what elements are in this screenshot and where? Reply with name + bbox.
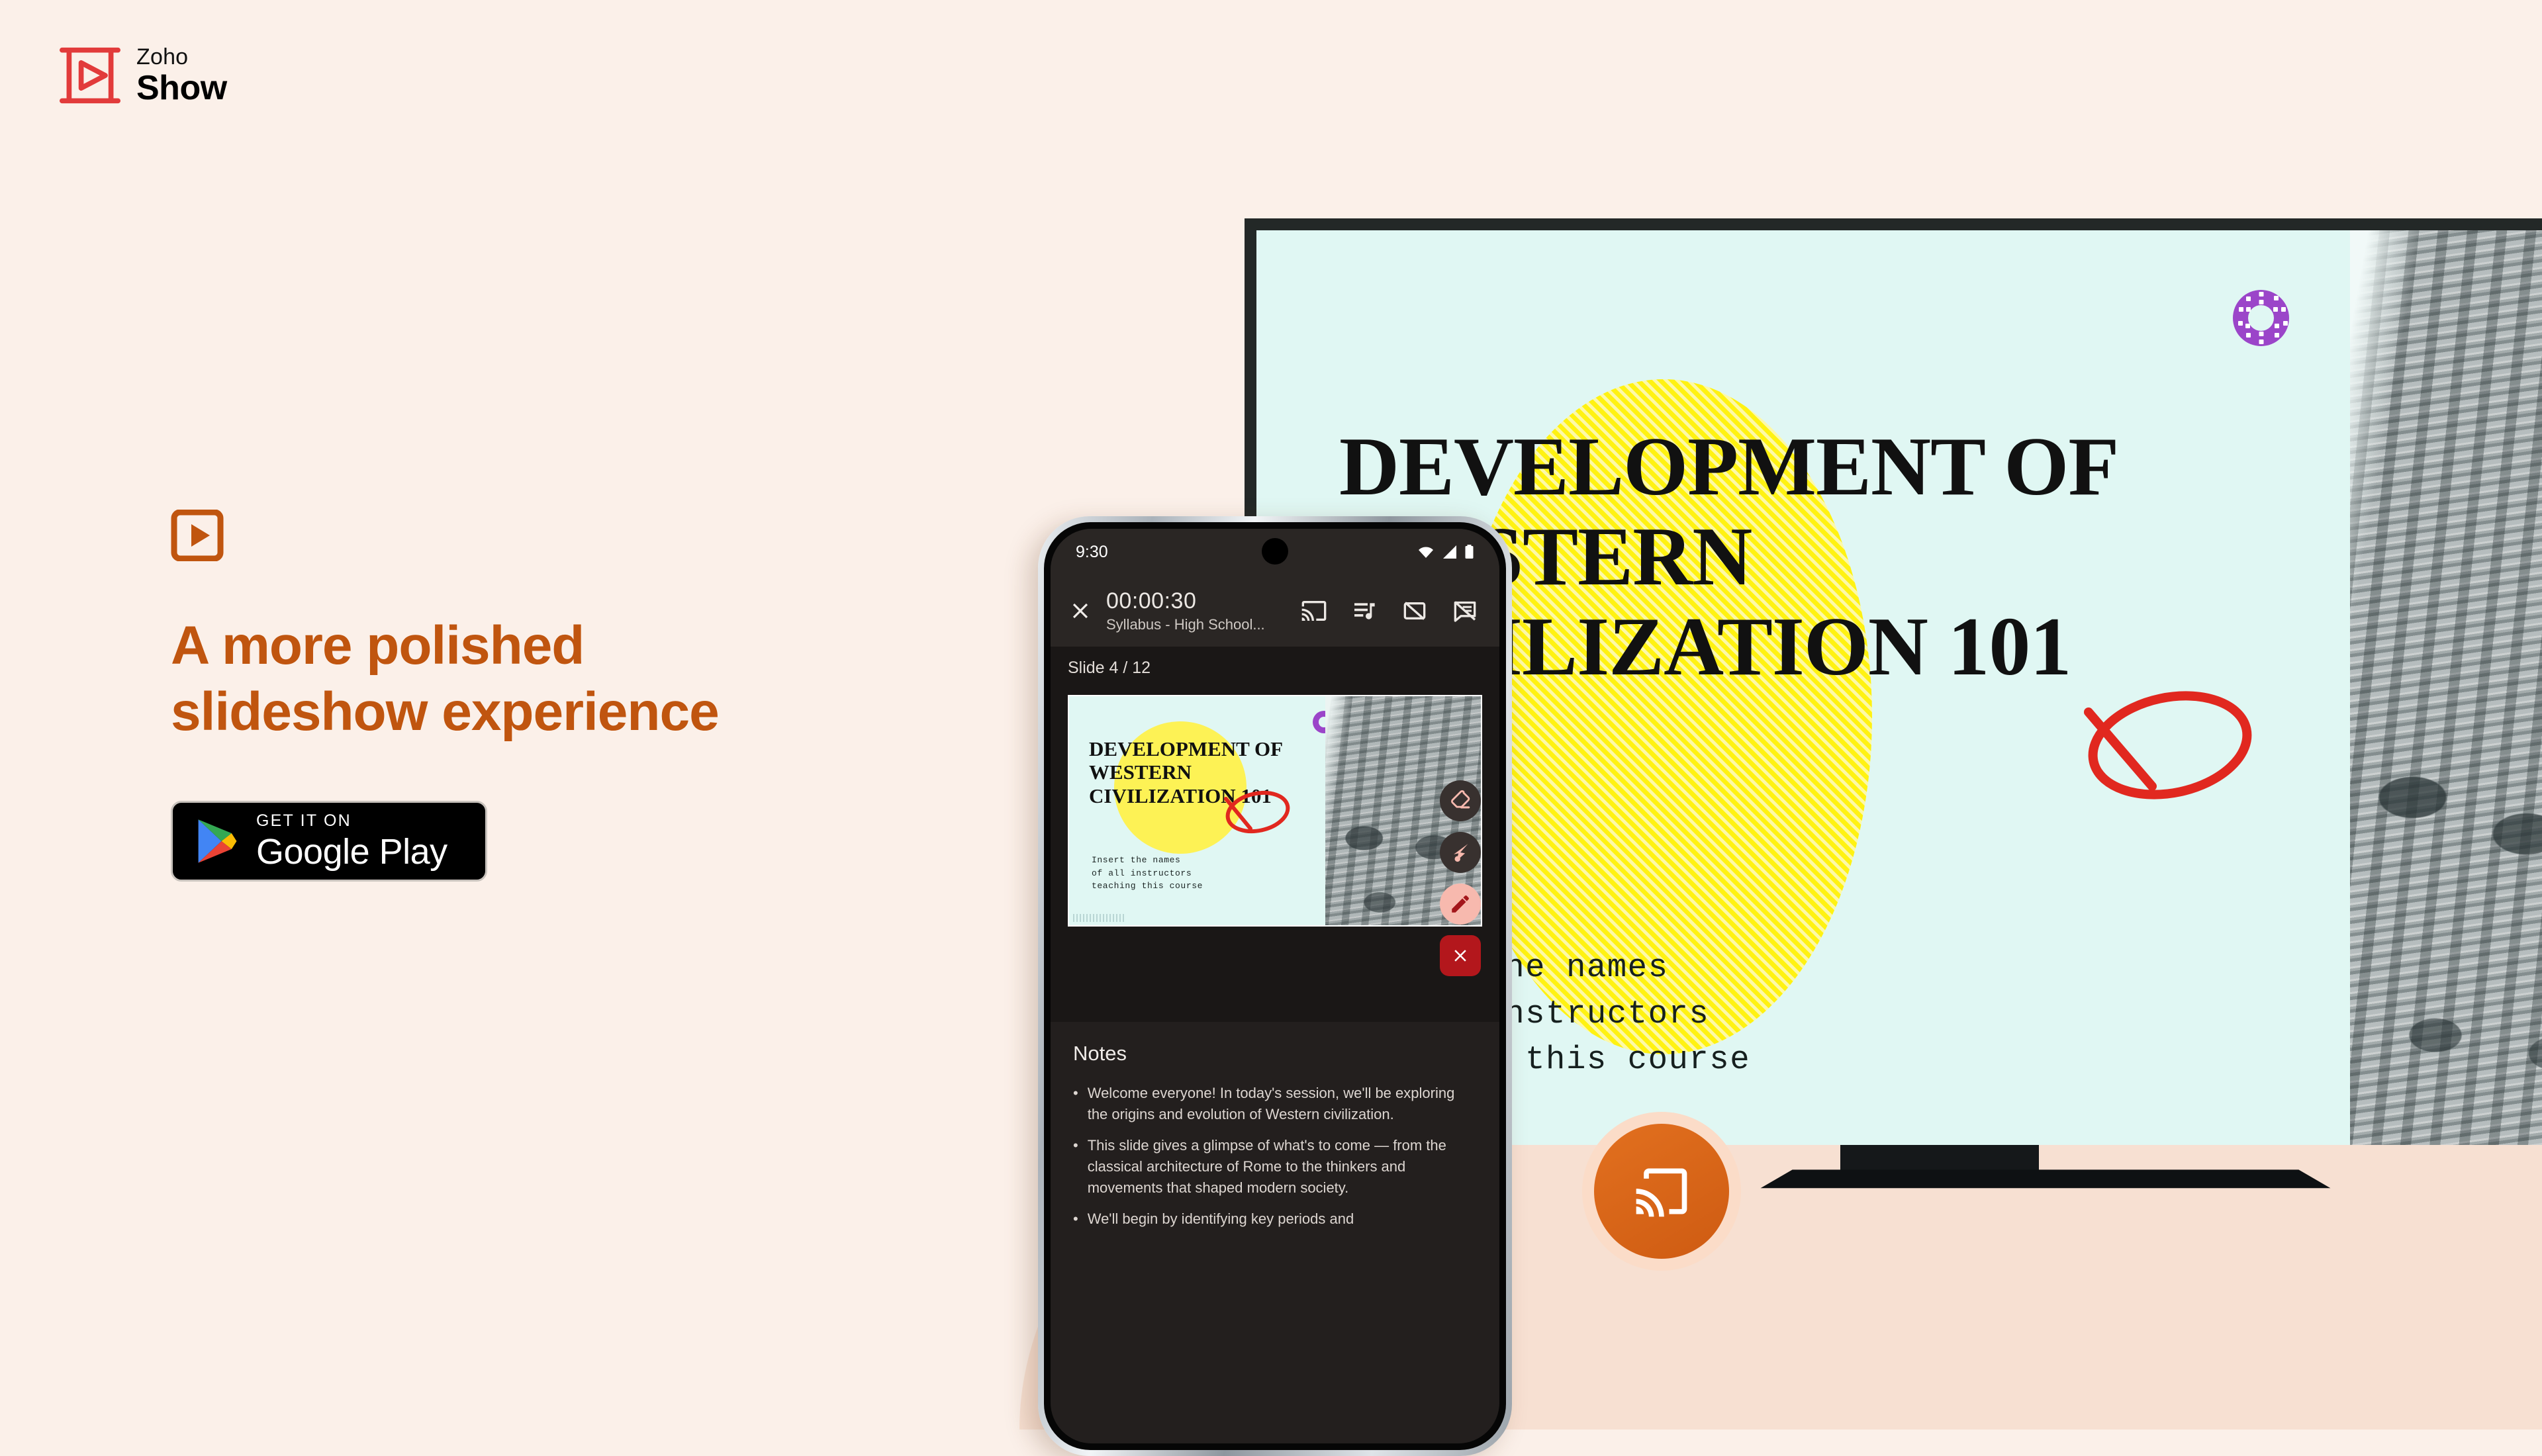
bullet-icon: • [1073, 1208, 1078, 1230]
battery-icon [1464, 544, 1474, 560]
cast-to-tv-button[interactable] [1594, 1124, 1729, 1259]
cast-icon [1631, 1161, 1692, 1222]
play-square-icon [171, 510, 224, 561]
eraser-icon [1449, 790, 1472, 812]
close-icon [1450, 946, 1470, 966]
status-icons [1417, 544, 1474, 560]
cast-button[interactable] [1301, 598, 1327, 624]
signal-icon [1441, 544, 1458, 560]
headline-line-2: slideshow experience [171, 679, 965, 745]
note-text: Welcome everyone! In today's session, we… [1088, 1083, 1477, 1126]
toolbar-actions [1301, 598, 1483, 624]
blank-screen-button[interactable] [1401, 598, 1428, 624]
presentation-timer: 00:00:30 [1106, 589, 1265, 614]
toggle-notes-button[interactable] [1452, 598, 1478, 624]
list-item: • Welcome everyone! In today's session, … [1073, 1083, 1477, 1126]
zoho-show-play-icon [58, 45, 122, 106]
phone-device: 9:30 00:00:3 [1038, 516, 1512, 1456]
hero-section: A more polished slideshow experience GET… [171, 510, 965, 882]
preview-title-line-1: DEVELOPMENT OF [1089, 737, 1307, 760]
phone-screen: 9:30 00:00:3 [1051, 529, 1499, 1443]
exit-presentation-button[interactable] [1065, 598, 1096, 623]
tv-stand-neck [1840, 1145, 2039, 1171]
status-time: 9:30 [1076, 543, 1108, 562]
notes-panel[interactable]: Notes • Welcome everyone! In today's ses… [1051, 1022, 1499, 1443]
deck-name: Syllabus - High School... [1106, 617, 1265, 633]
slide-counter: Slide 4 / 12 [1051, 647, 1499, 687]
headline-line-1: A more polished [171, 613, 965, 679]
list-item: • This slide gives a glimpse of what's t… [1073, 1135, 1477, 1199]
phone-bezel: 9:30 00:00:3 [1044, 522, 1506, 1450]
note-text: This slide gives a glimpse of what's to … [1088, 1135, 1477, 1199]
list-item: • We'll begin by identifying key periods… [1073, 1208, 1477, 1230]
bullet-icon: • [1073, 1135, 1078, 1199]
laser-pointer-icon [1449, 841, 1472, 864]
zoho-show-logo[interactable]: Zoho Show [58, 45, 227, 106]
preview-subtitle-line-3: teaching this course [1092, 880, 1203, 893]
page-title: A more polished slideshow experience [171, 613, 965, 745]
bullet-icon: • [1073, 1083, 1078, 1126]
pen-tool[interactable] [1440, 884, 1481, 925]
front-camera-icon [1262, 538, 1288, 565]
notes-title: Notes [1073, 1042, 1477, 1066]
slide-queue-button[interactable] [1351, 598, 1378, 624]
preview-title-line-2: WESTERN [1089, 760, 1307, 784]
preview-subtitle-line-1: Insert the names [1092, 854, 1203, 867]
logo-text-show: Show [136, 71, 227, 105]
laser-pointer-tool[interactable] [1440, 832, 1481, 873]
annotation-circle-icon [2074, 687, 2259, 803]
eraser-tool[interactable] [1440, 780, 1481, 821]
close-annotation-tools[interactable] [1440, 935, 1481, 976]
preview-slide-subtitle: Insert the names of all instructors teac… [1092, 854, 1203, 893]
google-play-icon [195, 817, 239, 865]
pen-icon [1449, 893, 1472, 915]
current-slide-preview[interactable]: DEVELOPMENT OF WESTERN CIVILIZATION 101 … [1068, 695, 1482, 927]
notes-list: • Welcome everyone! In today's session, … [1073, 1083, 1477, 1230]
status-bar: 9:30 [1051, 529, 1499, 575]
preview-subtitle-line-2: of all instructors [1092, 867, 1203, 880]
slide-title-line-1: DEVELOPMENT OF [1339, 422, 2299, 512]
badge-small-label: GET IT ON [256, 813, 447, 829]
preview-barcode-decor [1073, 914, 1126, 922]
note-text: We'll begin by identifying key periods a… [1088, 1208, 1354, 1230]
google-play-badge[interactable]: GET IT ON Google Play [171, 801, 487, 882]
wifi-icon [1417, 544, 1435, 560]
presentation-toolbar: 00:00:30 Syllabus - High School... [1051, 575, 1499, 647]
badge-big-label: Google Play [256, 834, 447, 870]
logo-text-zoho: Zoho [136, 46, 227, 68]
preview-annotation-circle-icon [1220, 789, 1293, 835]
slide-purple-donut [2233, 290, 2289, 346]
colosseum-photo [2350, 230, 2542, 1145]
close-icon [1068, 598, 1093, 623]
presentation-info: 00:00:30 Syllabus - High School... [1106, 589, 1265, 633]
annotation-tools [1440, 780, 1481, 976]
